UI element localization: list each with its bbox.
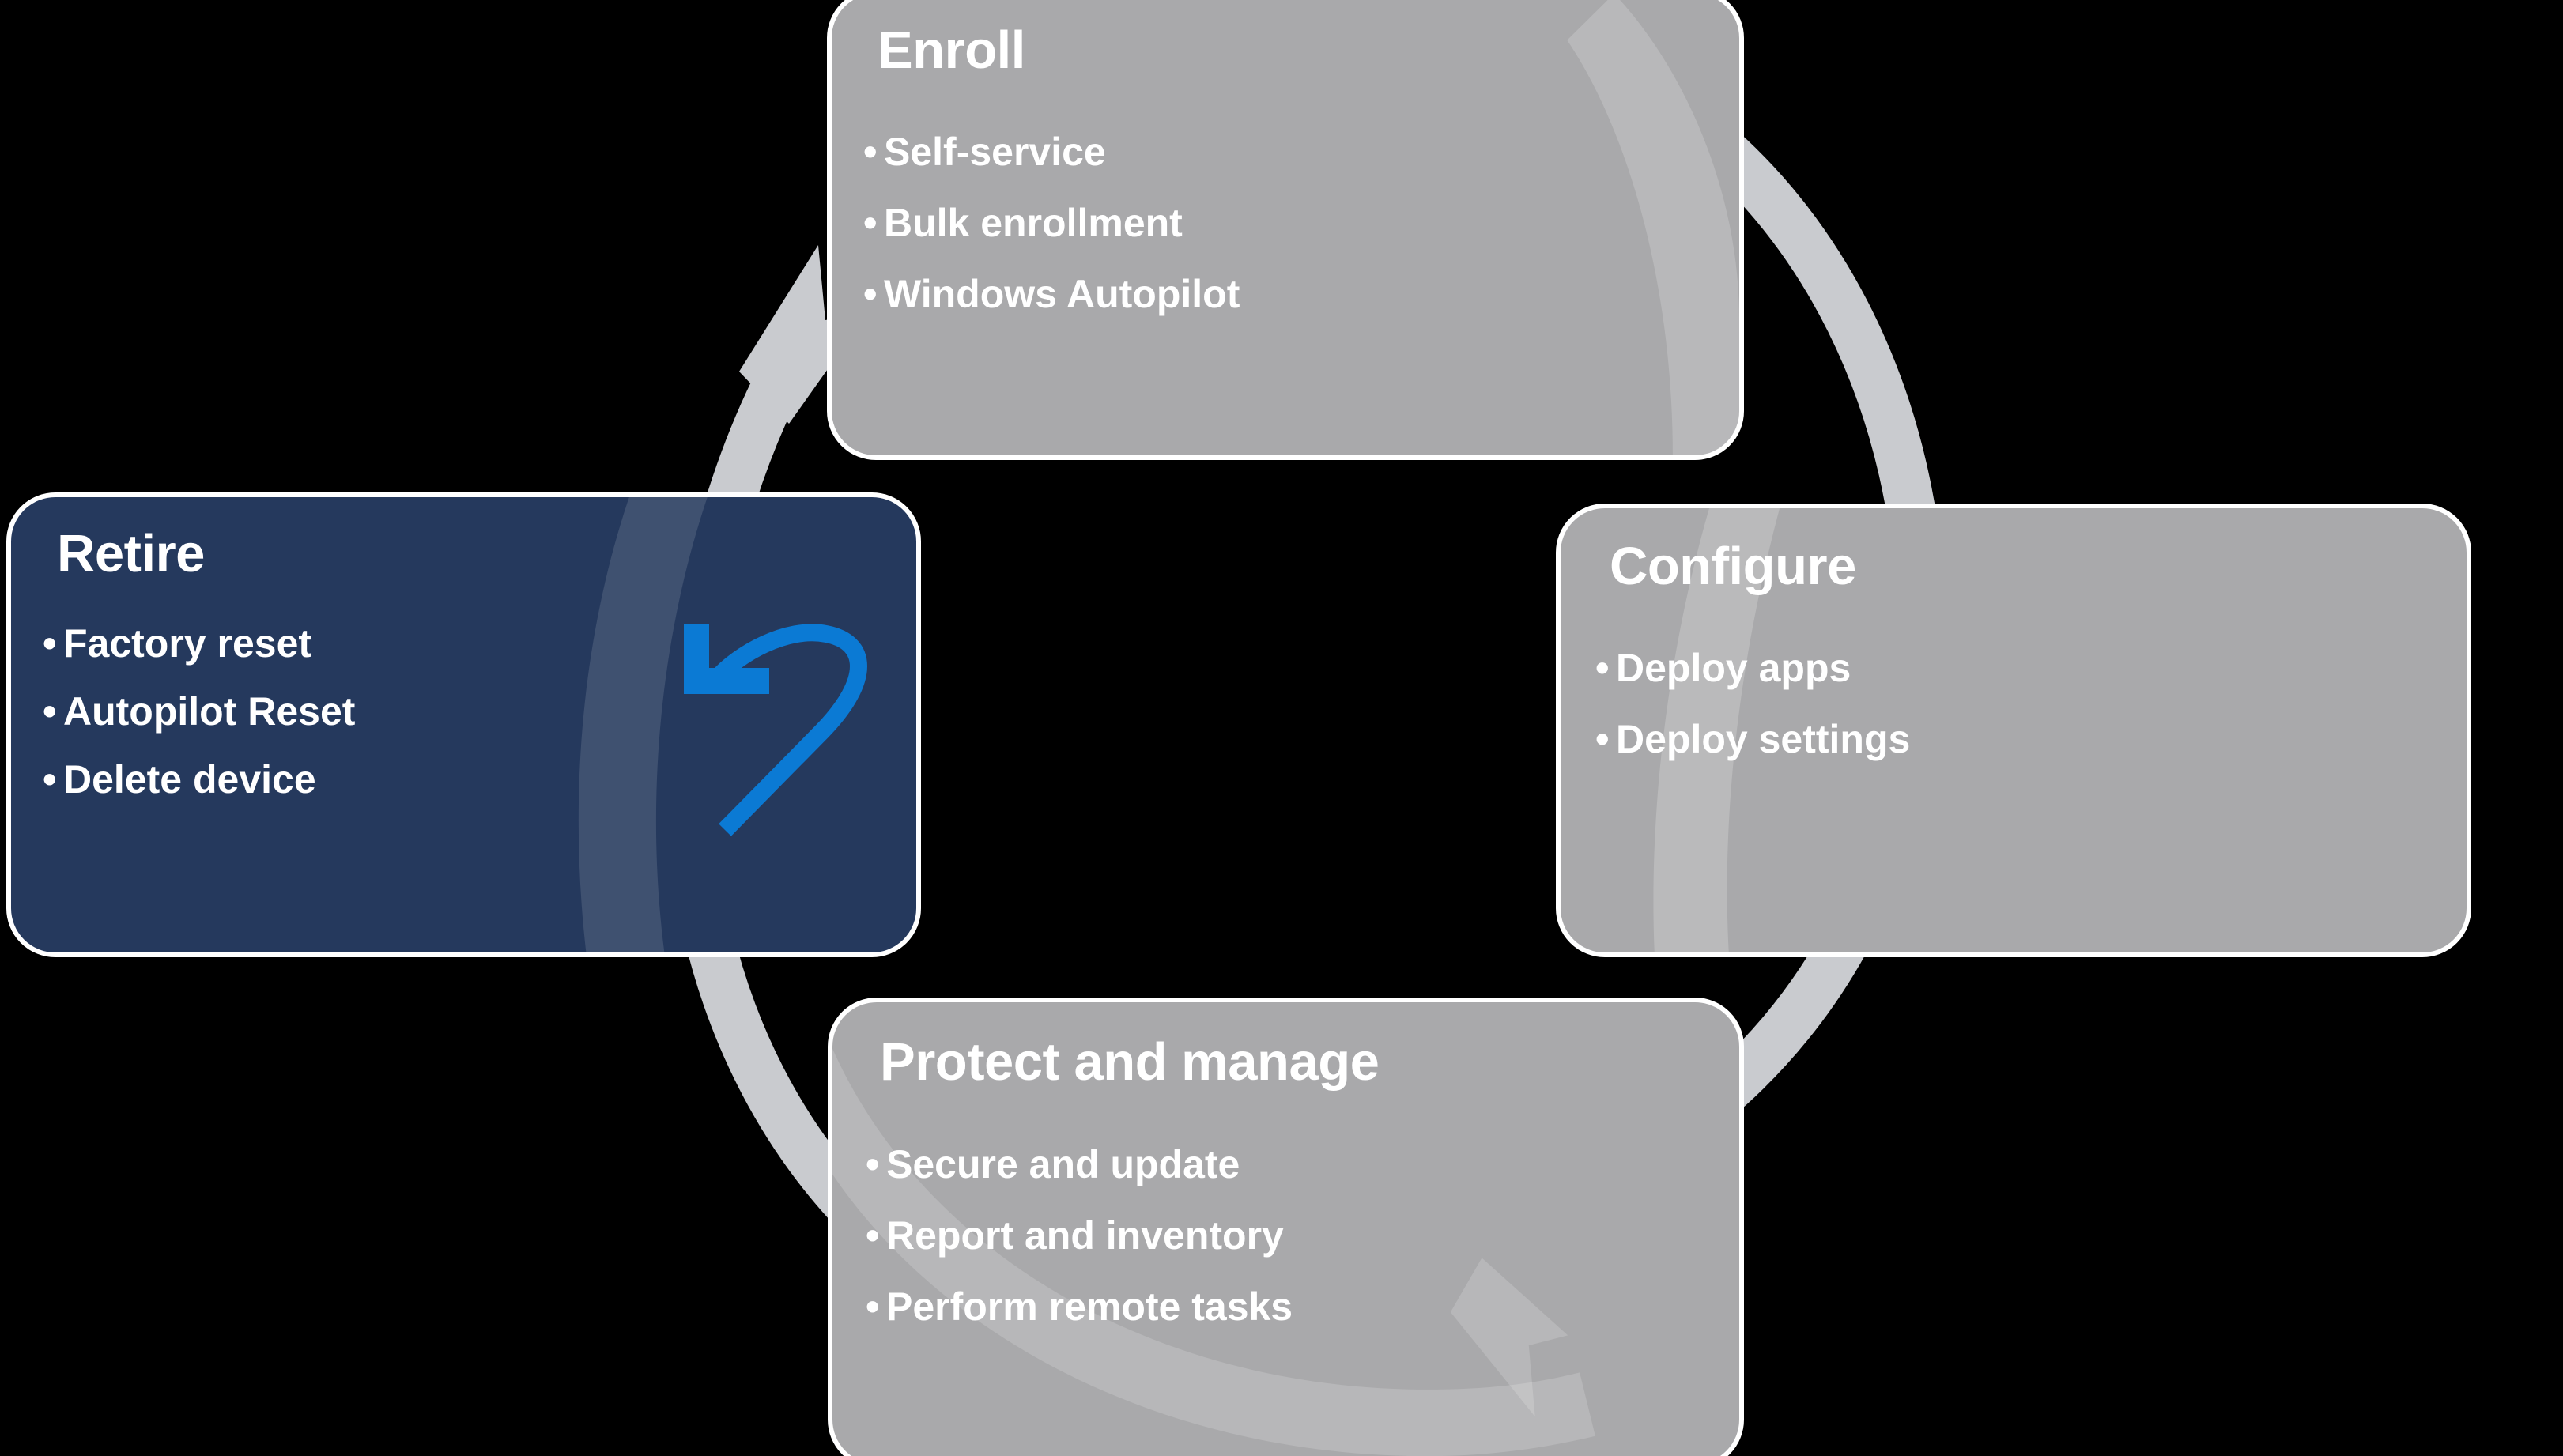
list-item: • Deploy settings [1595,719,1910,759]
bullet-glyph: • [43,692,63,731]
bullet-text: Secure and update [886,1145,1240,1184]
bullet-glyph: • [866,1145,886,1184]
list-item: • Bulk enrollment [863,203,1240,243]
bullet-text: Deploy settings [1616,719,1910,759]
card-enroll[interactable]: Enroll • Self-service • Bulk enrollment … [827,0,1744,460]
bullet-text: Autopilot Reset [63,692,355,731]
bullet-glyph: • [866,1216,886,1255]
bullet-list-configure: • Deploy apps • Deploy settings [1595,648,1910,790]
bullet-list-protect: • Secure and update • Report and invento… [866,1145,1293,1358]
list-item: • Autopilot Reset [43,692,355,731]
bullet-text: Bulk enrollment [884,203,1183,243]
list-item: • Delete device [43,760,355,799]
list-item: • Deploy apps [1595,648,1910,688]
bullet-list-retire: • Factory reset • Autopilot Reset • Dele… [43,624,355,828]
list-item: • Report and inventory [866,1216,1293,1255]
bullet-glyph: • [863,132,884,172]
bullet-glyph: • [1595,719,1616,759]
card-protect-and-manage[interactable]: Protect and manage • Secure and update •… [828,998,1744,1456]
undo-arrow-icon [676,593,905,838]
list-item: • Self-service [863,132,1240,172]
card-title-configure: Configure [1610,540,1856,593]
bullet-glyph: • [863,274,884,314]
bullet-glyph: • [863,203,884,243]
card-configure[interactable]: Configure • Deploy apps • Deploy setting… [1556,504,2471,957]
card-title-protect: Protect and manage [880,1035,1379,1088]
bullet-glyph: • [43,760,63,799]
bullet-text: Factory reset [63,624,311,663]
bullet-glyph: • [1595,648,1616,688]
bullet-text: Deploy apps [1616,648,1851,688]
list-item: • Perform remote tasks [866,1287,1293,1326]
bullet-text: Delete device [63,760,316,799]
card-title-retire: Retire [57,527,205,580]
bullet-text: Perform remote tasks [886,1287,1293,1326]
bullet-glyph: • [43,624,63,663]
bullet-list-enroll: • Self-service • Bulk enrollment • Windo… [863,132,1240,345]
list-item: • Secure and update [866,1145,1293,1184]
diagram-canvas: Enroll • Self-service • Bulk enrollment … [0,0,2563,1456]
list-item: • Windows Autopilot [863,274,1240,314]
list-item: • Factory reset [43,624,355,663]
bullet-text: Report and inventory [886,1216,1284,1255]
bullet-glyph: • [866,1287,886,1326]
card-title-enroll: Enroll [878,24,1025,77]
bullet-text: Self-service [884,132,1106,172]
bullet-text: Windows Autopilot [884,274,1240,314]
